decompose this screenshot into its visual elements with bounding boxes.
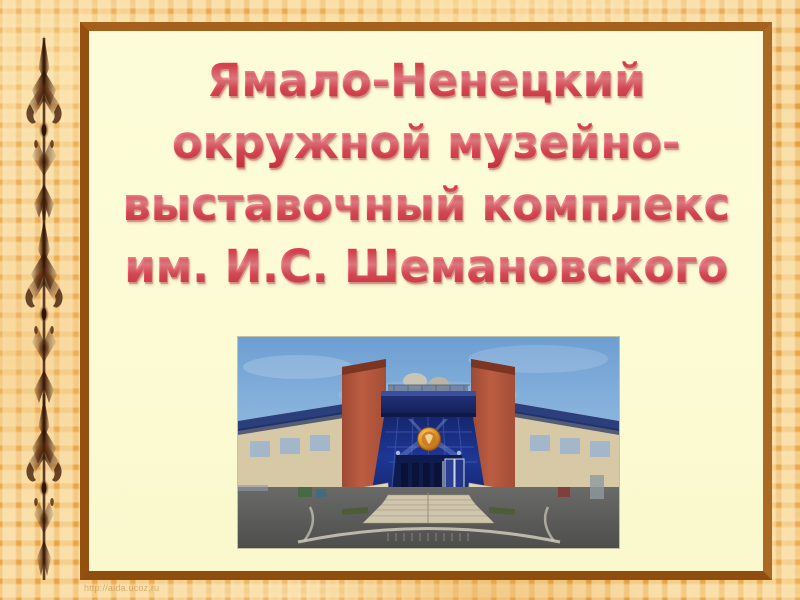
- title-line-2: окружной музейно-: [95, 112, 757, 174]
- title-line-3: выставочный комплекс: [95, 174, 757, 236]
- title-line-4: им. И.С. Шемановского: [95, 236, 757, 298]
- source-watermark: http://aida.ucoz.ru: [84, 583, 159, 593]
- title-line-1: Ямало-Ненецкий: [95, 50, 757, 112]
- museum-building-photo: [238, 337, 619, 548]
- slide: Ямало-Ненецкий окружной музейно- выставо…: [0, 0, 800, 600]
- page-title: Ямало-Ненецкий окружной музейно- выставо…: [95, 50, 757, 298]
